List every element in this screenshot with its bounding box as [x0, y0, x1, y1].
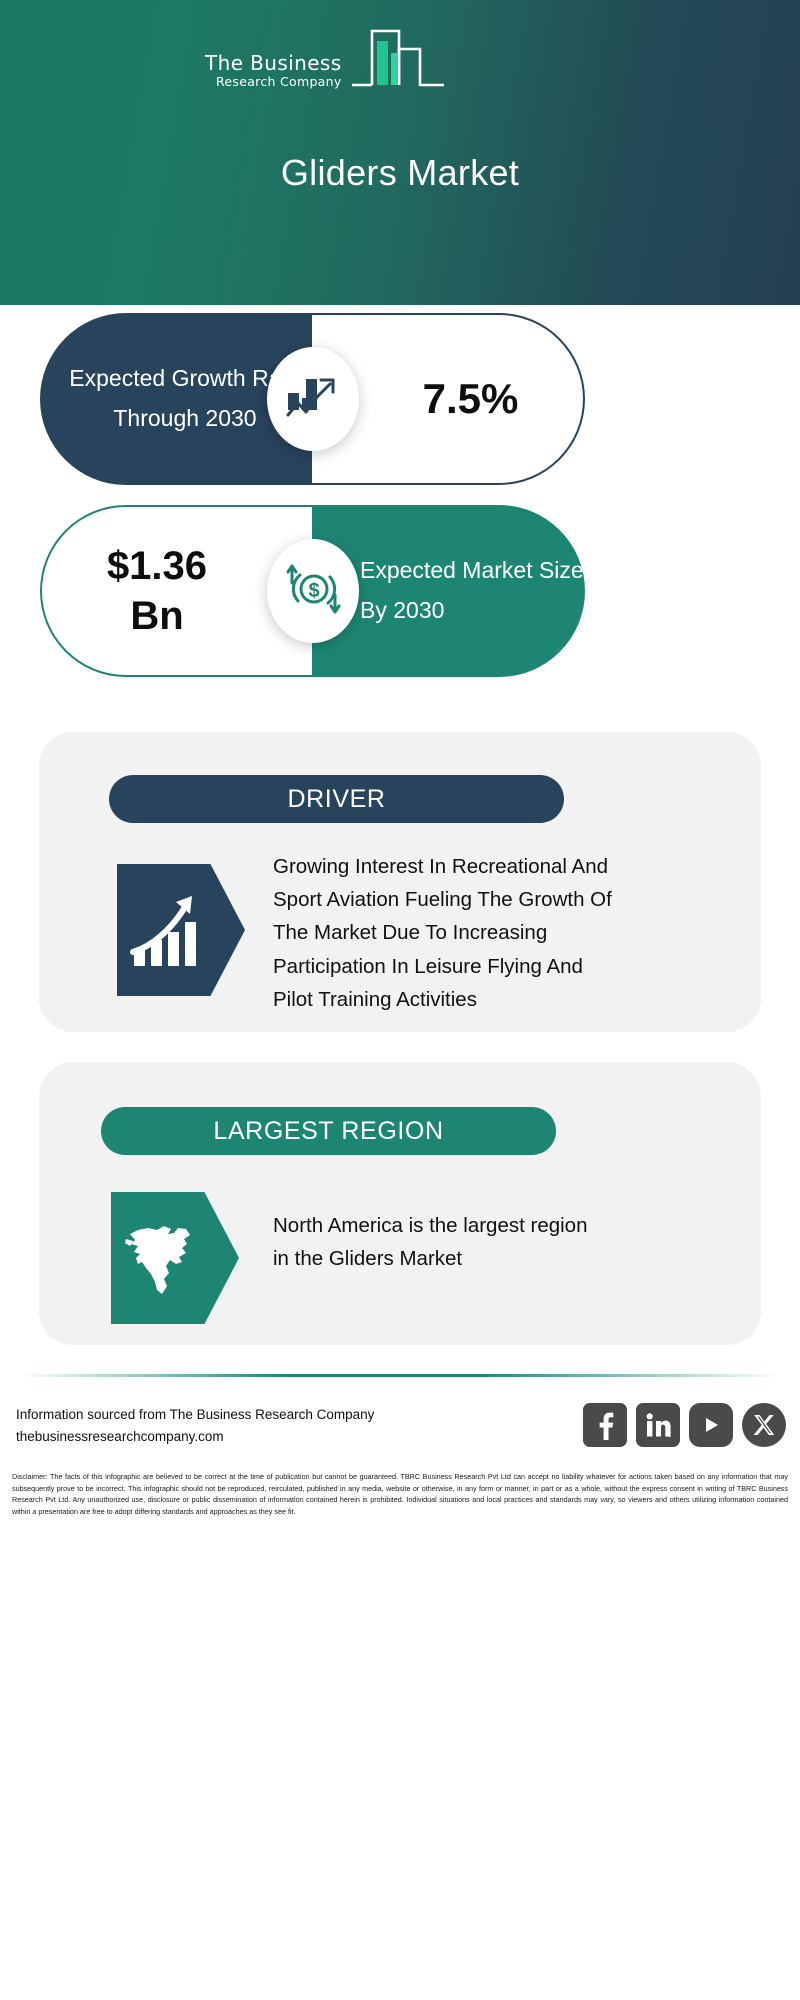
largest-region-pill: LARGEST REGION	[101, 1107, 556, 1155]
bar-chart-logo-icon	[344, 19, 449, 94]
largest-region-body-text: North America is the largest region in t…	[273, 1210, 603, 1276]
footer-source-line-1: Information sourced from The Business Re…	[16, 1404, 374, 1426]
linkedin-icon[interactable]	[636, 1403, 680, 1447]
largest-region-pill-label: LARGEST REGION	[213, 1117, 443, 1146]
stat-row-market-size: $1.36 Bn Expected Market Size By 2030 $	[0, 505, 800, 710]
x-twitter-icon[interactable]	[742, 1403, 786, 1447]
footer-bar: Information sourced from The Business Re…	[0, 1387, 800, 1465]
svg-text:$: $	[308, 580, 319, 602]
logo-text-block: The Business Research Company	[205, 53, 342, 94]
growth-bar-chart-arrow-icon	[285, 371, 341, 428]
stat-value-line-1: $1.36	[107, 544, 207, 588]
driver-pill-label: DRIVER	[287, 785, 385, 814]
page-title: Gliders Market	[0, 152, 800, 194]
stat-icon-badge	[267, 347, 359, 451]
stat-value-text: $1.36 Bn	[107, 541, 247, 641]
logo-line-1: The Business	[205, 53, 342, 74]
footer-source-line-2[interactable]: thebusinessresearchcompany.com	[16, 1426, 374, 1448]
facebook-icon[interactable]	[583, 1403, 627, 1447]
stat-row-growth-rate: Expected Growth Rate Through 2030 7.5%	[0, 305, 800, 505]
rising-bar-chart-arrow-icon	[117, 864, 245, 996]
driver-pill: DRIVER	[109, 775, 564, 823]
logo-line-2: Research Company	[216, 74, 342, 90]
driver-body-text: Growing Interest In Recreational And Spo…	[273, 850, 613, 1016]
footer-source: Information sourced from The Business Re…	[16, 1404, 374, 1447]
stat-value-line-2: Bn	[130, 594, 183, 638]
company-logo: The Business Research Company	[205, 22, 455, 94]
dollar-circular-arrows-icon: $	[283, 561, 343, 622]
divider-line	[20, 1374, 780, 1377]
stat-card-growth-rate: Expected Growth Rate Through 2030 7.5%	[40, 313, 585, 485]
stat-card-market-size: $1.36 Bn Expected Market Size By 2030 $	[40, 505, 585, 677]
stat-icon-badge: $	[267, 539, 359, 643]
panel-driver: DRIVER Growing Interest In Recreational …	[39, 732, 761, 1032]
stat-value-text: 7.5%	[377, 375, 519, 423]
header-banner: The Business Research Company Gliders Ma…	[0, 0, 800, 305]
footer-disclaimer: Disclaimer: The facts of this infographi…	[0, 1465, 800, 1518]
footer-divider	[0, 1363, 800, 1387]
infographic-page: The Business Research Company Gliders Ma…	[0, 0, 800, 2000]
panel-largest-region: LARGEST REGION North America is the larg…	[39, 1062, 761, 1345]
social-links	[583, 1403, 786, 1447]
youtube-icon[interactable]	[689, 1403, 733, 1447]
north-america-map-icon	[111, 1192, 239, 1324]
